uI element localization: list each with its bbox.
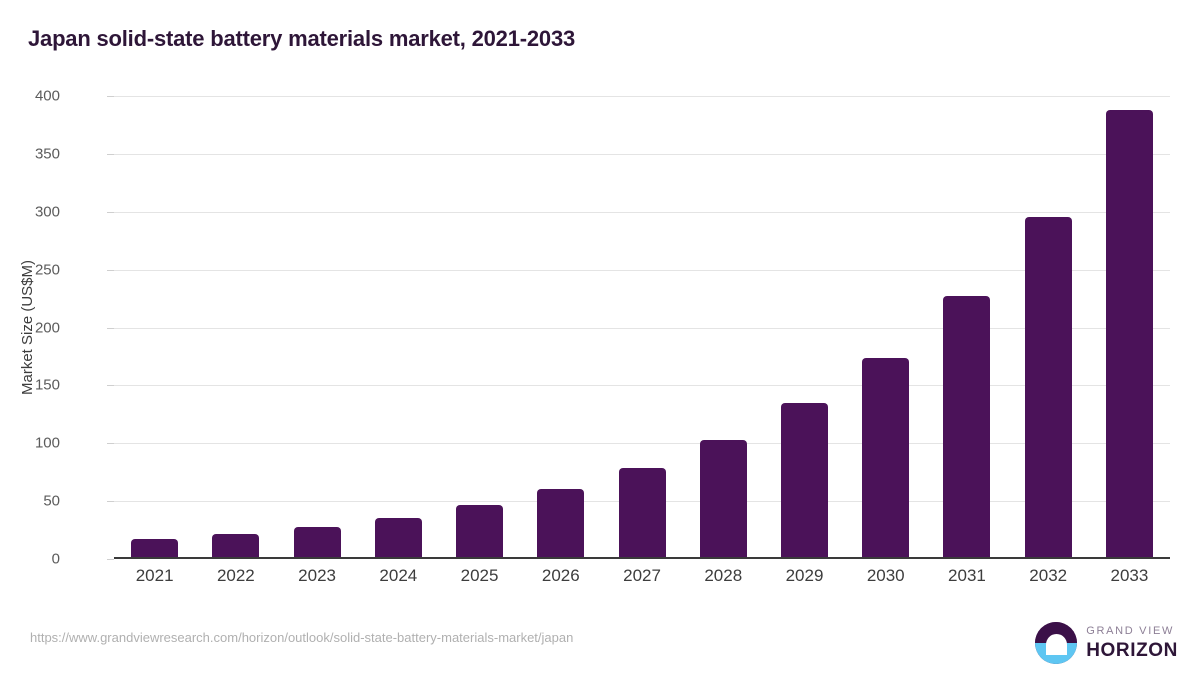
bar-slot (439, 96, 520, 558)
x-tick-label-2022: 2022 (195, 566, 276, 586)
y-tick-mark (107, 385, 114, 386)
bar-2021[interactable] (131, 539, 178, 558)
x-tick-label-2028: 2028 (683, 566, 764, 586)
x-tick-label-2031: 2031 (926, 566, 1007, 586)
bar-2027[interactable] (619, 468, 666, 558)
plot-area: Market Size (US$M) 050100150200250300350… (0, 0, 1200, 675)
y-tick-label: 400 (0, 88, 60, 105)
bar-slot (520, 96, 601, 558)
bar-slot (276, 96, 357, 558)
bar-slot (683, 96, 764, 558)
x-tick-label-2025: 2025 (439, 566, 520, 586)
bar-2033[interactable] (1106, 110, 1153, 558)
y-tick-mark (107, 328, 114, 329)
logo-top-text: GRAND VIEW (1086, 626, 1178, 637)
logo-ray-lower (1051, 652, 1061, 654)
bar-slot (1008, 96, 1089, 558)
y-tick-mark (107, 443, 114, 444)
brand-logo[interactable]: GRAND VIEW HORIZON (1035, 620, 1178, 666)
bar-2026[interactable] (537, 489, 584, 558)
y-tick-label: 250 (0, 261, 60, 278)
logo-bottom-text: HORIZON (1086, 641, 1178, 660)
x-tick-label-2032: 2032 (1008, 566, 1089, 586)
source-url[interactable]: https://www.grandviewresearch.com/horizo… (30, 630, 573, 645)
bar-slot (601, 96, 682, 558)
x-axis-line (114, 557, 1170, 559)
x-tick-label-2027: 2027 (601, 566, 682, 586)
bar-2028[interactable] (700, 440, 747, 558)
x-tick-label-2033: 2033 (1089, 566, 1170, 586)
y-tick-mark (107, 154, 114, 155)
bar-2023[interactable] (294, 527, 341, 558)
bar-slot (845, 96, 926, 558)
y-tick-label: 350 (0, 145, 60, 162)
bar-2031[interactable] (943, 296, 990, 558)
bar-2030[interactable] (862, 358, 909, 558)
y-tick-label: 100 (0, 435, 60, 452)
logo-ray-upper (1048, 647, 1064, 649)
x-axis-ticks: 2021202220232024202520262027202820292030… (114, 566, 1170, 586)
bar-slot (764, 96, 845, 558)
x-tick-label-2029: 2029 (764, 566, 845, 586)
x-tick-label-2024: 2024 (358, 566, 439, 586)
x-tick-label-2030: 2030 (845, 566, 926, 586)
bar-slot (358, 96, 439, 558)
y-tick-label: 150 (0, 377, 60, 394)
x-tick-label-2023: 2023 (276, 566, 357, 586)
y-tick-mark (107, 270, 114, 271)
sunrise-horizon-icon (1035, 622, 1077, 664)
x-tick-label-2021: 2021 (114, 566, 195, 586)
y-tick-mark (107, 559, 114, 560)
chart-canvas: Japan solid-state battery materials mark… (0, 0, 1200, 675)
bar-2032[interactable] (1025, 217, 1072, 558)
y-tick-label: 300 (0, 203, 60, 220)
bar-2024[interactable] (375, 518, 422, 559)
y-tick-mark (107, 501, 114, 502)
bar-2029[interactable] (781, 403, 828, 558)
y-tick-label: 50 (0, 493, 60, 510)
bar-series (114, 96, 1170, 558)
bar-2025[interactable] (456, 505, 503, 558)
y-tick-label: 0 (0, 551, 60, 568)
bar-slot (926, 96, 1007, 558)
bar-2022[interactable] (212, 534, 259, 558)
x-tick-label-2026: 2026 (520, 566, 601, 586)
y-tick-mark (107, 96, 114, 97)
bar-slot (1089, 96, 1170, 558)
y-tick-mark (107, 212, 114, 213)
y-tick-label: 200 (0, 319, 60, 336)
bar-slot (195, 96, 276, 558)
bar-slot (114, 96, 195, 558)
logo-wordmark: GRAND VIEW HORIZON (1086, 626, 1178, 660)
